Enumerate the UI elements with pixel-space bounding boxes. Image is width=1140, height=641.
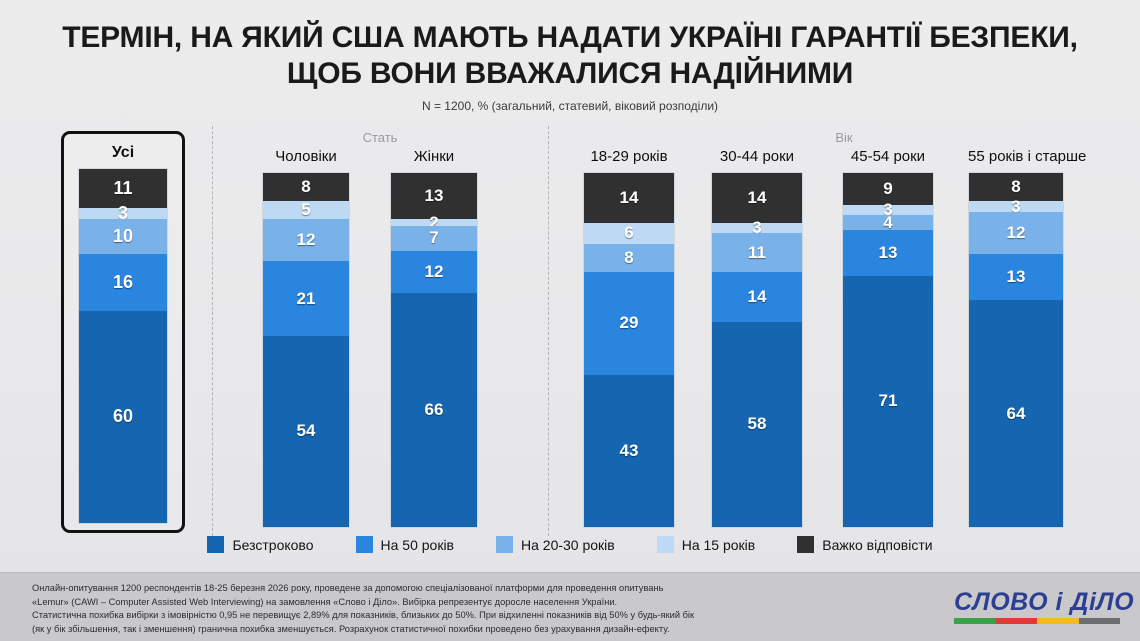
stacked-bar: 143111458 bbox=[711, 172, 803, 528]
methodology-line: (як у бік збільшення, так і зменшення) г… bbox=[32, 623, 912, 637]
bar-segment: 64 bbox=[969, 300, 1063, 527]
bar-segment: 12 bbox=[263, 219, 349, 261]
chart-subtitle: N = 1200, % (загальний, статевий, вікови… bbox=[0, 99, 1140, 113]
bar-segment: 5 bbox=[263, 201, 349, 219]
separator-line-left bbox=[212, 126, 213, 536]
bar-segment: 54 bbox=[263, 336, 349, 527]
chart-column: Чоловіки85122154 bbox=[262, 126, 350, 536]
legend-swatch-icon bbox=[496, 536, 513, 553]
bar-segment-value: 54 bbox=[297, 421, 316, 441]
bar-segment: 2 bbox=[391, 219, 477, 226]
column-label: 30-44 роки bbox=[711, 148, 803, 165]
bar-segment: 10 bbox=[79, 219, 167, 254]
bar-segment-value: 16 bbox=[113, 272, 133, 293]
bar-segment-value: 64 bbox=[1007, 404, 1026, 424]
bar-segment: 12 bbox=[969, 212, 1063, 254]
legend-label: На 50 років bbox=[381, 537, 455, 553]
chart-column: 45-54 роки9341371 bbox=[842, 126, 934, 536]
bar-segment: 58 bbox=[712, 322, 802, 527]
separator-line-right bbox=[548, 126, 549, 536]
bar-segment-value: 13 bbox=[1007, 267, 1026, 287]
title-line-2: ЩОБ ВОНИ ВВАЖАЛИСЯ НАДІЙНИМИ bbox=[0, 56, 1140, 92]
legend-swatch-icon bbox=[207, 536, 224, 553]
title-line-1: ТЕРМІН, НА ЯКИЙ США МАЮТЬ НАДАТИ УКРАЇНІ… bbox=[0, 20, 1140, 56]
bar-segment: 3 bbox=[969, 201, 1063, 212]
column-label: 18-29 років bbox=[583, 148, 675, 165]
brand-logo: СЛОВО і ДіЛО bbox=[954, 589, 1124, 624]
stacked-bar: 85122154 bbox=[262, 172, 350, 528]
bar-segment-value: 12 bbox=[425, 262, 444, 282]
chart-column: 30-44 роки143111458 bbox=[711, 126, 803, 536]
bar-segment: 60 bbox=[79, 311, 167, 523]
bar-segment-value: 8 bbox=[624, 248, 633, 268]
infographic-root: ТЕРМІН, НА ЯКИЙ США МАЮТЬ НАДАТИ УКРАЇНІ… bbox=[0, 0, 1140, 641]
legend-item[interactable]: Важко відповісти bbox=[797, 536, 932, 553]
logo-color-bar bbox=[954, 618, 1120, 624]
bar-segment-value: 71 bbox=[879, 391, 898, 411]
legend-label: Безстроково bbox=[232, 537, 313, 553]
stacked-bar: 14682943 bbox=[583, 172, 675, 528]
bar-segment: 3 bbox=[712, 223, 802, 234]
bar-segment-value: 13 bbox=[879, 243, 898, 263]
bar-segment: 14 bbox=[712, 272, 802, 322]
legend-label: На 15 років bbox=[682, 537, 756, 553]
bar-segment: 13 bbox=[843, 230, 933, 276]
bar-segment-value: 5 bbox=[301, 200, 310, 220]
legend-item[interactable]: На 20-30 років bbox=[496, 536, 615, 553]
bar-segment-value: 13 bbox=[425, 186, 444, 206]
bar-segment-value: 43 bbox=[620, 441, 639, 461]
logo-bar-segment bbox=[954, 618, 996, 624]
bar-segment-value: 21 bbox=[297, 289, 316, 309]
stacked-bar: 13271266 bbox=[390, 172, 478, 528]
legend-label: Важко відповісти bbox=[822, 537, 932, 553]
chart-column: 55 років і старше83121364 bbox=[968, 126, 1064, 536]
methodology-line: Статистична похибка вибірки з імовірніст… bbox=[32, 609, 912, 623]
bar-segment: 14 bbox=[712, 173, 802, 223]
bar-segment: 3 bbox=[79, 208, 167, 219]
bar-segment-value: 8 bbox=[301, 177, 310, 197]
chart-plot-area: Стать Вік Усі113101660Чоловіки85122154Жі… bbox=[0, 126, 1140, 536]
chart-column: Усі113101660 bbox=[78, 126, 168, 536]
bar-segment: 14 bbox=[584, 173, 674, 223]
bar-segment: 13 bbox=[969, 254, 1063, 300]
bar-segment-value: 11 bbox=[113, 178, 132, 199]
bar-segment-value: 6 bbox=[624, 223, 633, 243]
bar-segment: 43 bbox=[584, 375, 674, 527]
bar-segment-value: 12 bbox=[1007, 223, 1026, 243]
bar-segment-value: 9 bbox=[883, 179, 892, 199]
bar-segment: 11 bbox=[712, 233, 802, 272]
bar-segment: 8 bbox=[584, 244, 674, 272]
bar-segment-value: 14 bbox=[748, 188, 767, 208]
bar-segment: 4 bbox=[843, 215, 933, 229]
chart-column: 18-29 років14682943 bbox=[583, 126, 675, 536]
methodology-line: Онлайн-опитування 1200 респондентів 18-2… bbox=[32, 582, 912, 596]
page-title: ТЕРМІН, НА ЯКИЙ США МАЮТЬ НАДАТИ УКРАЇНІ… bbox=[0, 20, 1140, 92]
logo-bar-segment bbox=[1037, 618, 1079, 624]
column-label: Чоловіки bbox=[262, 148, 350, 165]
column-label: 45-54 роки bbox=[842, 148, 934, 165]
stacked-bar: 83121364 bbox=[968, 172, 1064, 528]
bar-segment: 21 bbox=[263, 261, 349, 335]
stacked-bar: 113101660 bbox=[78, 168, 168, 524]
legend-item[interactable]: На 15 років bbox=[657, 536, 756, 553]
methodology-note: Онлайн-опитування 1200 респондентів 18-2… bbox=[32, 582, 912, 636]
bar-segment-value: 66 bbox=[425, 400, 444, 420]
column-label: Усі bbox=[78, 144, 168, 162]
logo-bar-segment bbox=[1079, 618, 1121, 624]
bar-segment: 6 bbox=[584, 223, 674, 244]
bar-segment: 8 bbox=[263, 173, 349, 201]
bar-segment-value: 60 bbox=[113, 406, 133, 427]
stacked-bar: 9341371 bbox=[842, 172, 934, 528]
bar-segment-value: 14 bbox=[620, 188, 639, 208]
logo-text: СЛОВО і ДіЛО bbox=[954, 589, 1124, 616]
legend-swatch-icon bbox=[356, 536, 373, 553]
bar-segment-value: 10 bbox=[113, 226, 133, 247]
legend-item[interactable]: Безстроково bbox=[207, 536, 313, 553]
bar-segment: 7 bbox=[391, 226, 477, 251]
bar-segment: 71 bbox=[843, 276, 933, 527]
logo-bar-segment bbox=[996, 618, 1038, 624]
legend-swatch-icon bbox=[797, 536, 814, 553]
footer-bar: Онлайн-опитування 1200 респондентів 18-2… bbox=[0, 572, 1140, 641]
bar-segment-value: 58 bbox=[748, 414, 767, 434]
bar-segment: 66 bbox=[391, 293, 477, 527]
bar-segment: 12 bbox=[391, 251, 477, 293]
methodology-line: «Lemur» (CAWI – Computer Assisted Web In… bbox=[32, 596, 912, 610]
legend-swatch-icon bbox=[657, 536, 674, 553]
chart-legend: БезстроковоНа 50 роківНа 20-30 роківНа 1… bbox=[0, 536, 1140, 553]
bar-segment-value: 12 bbox=[297, 230, 316, 250]
bar-segment-value: 29 bbox=[620, 313, 639, 333]
bar-segment-value: 8 bbox=[1011, 177, 1020, 197]
bar-segment: 29 bbox=[584, 272, 674, 375]
chart-column: Жінки13271266 bbox=[390, 126, 478, 536]
column-label: 55 років і старше bbox=[968, 148, 1064, 165]
bar-segment: 16 bbox=[79, 254, 167, 311]
legend-label: На 20-30 років bbox=[521, 537, 615, 553]
bar-segment-value: 14 bbox=[748, 287, 767, 307]
column-label: Жінки bbox=[390, 148, 478, 165]
bar-segment-value: 11 bbox=[748, 243, 766, 263]
legend-item[interactable]: На 50 років bbox=[356, 536, 455, 553]
bar-segment-value: 7 bbox=[429, 228, 438, 248]
